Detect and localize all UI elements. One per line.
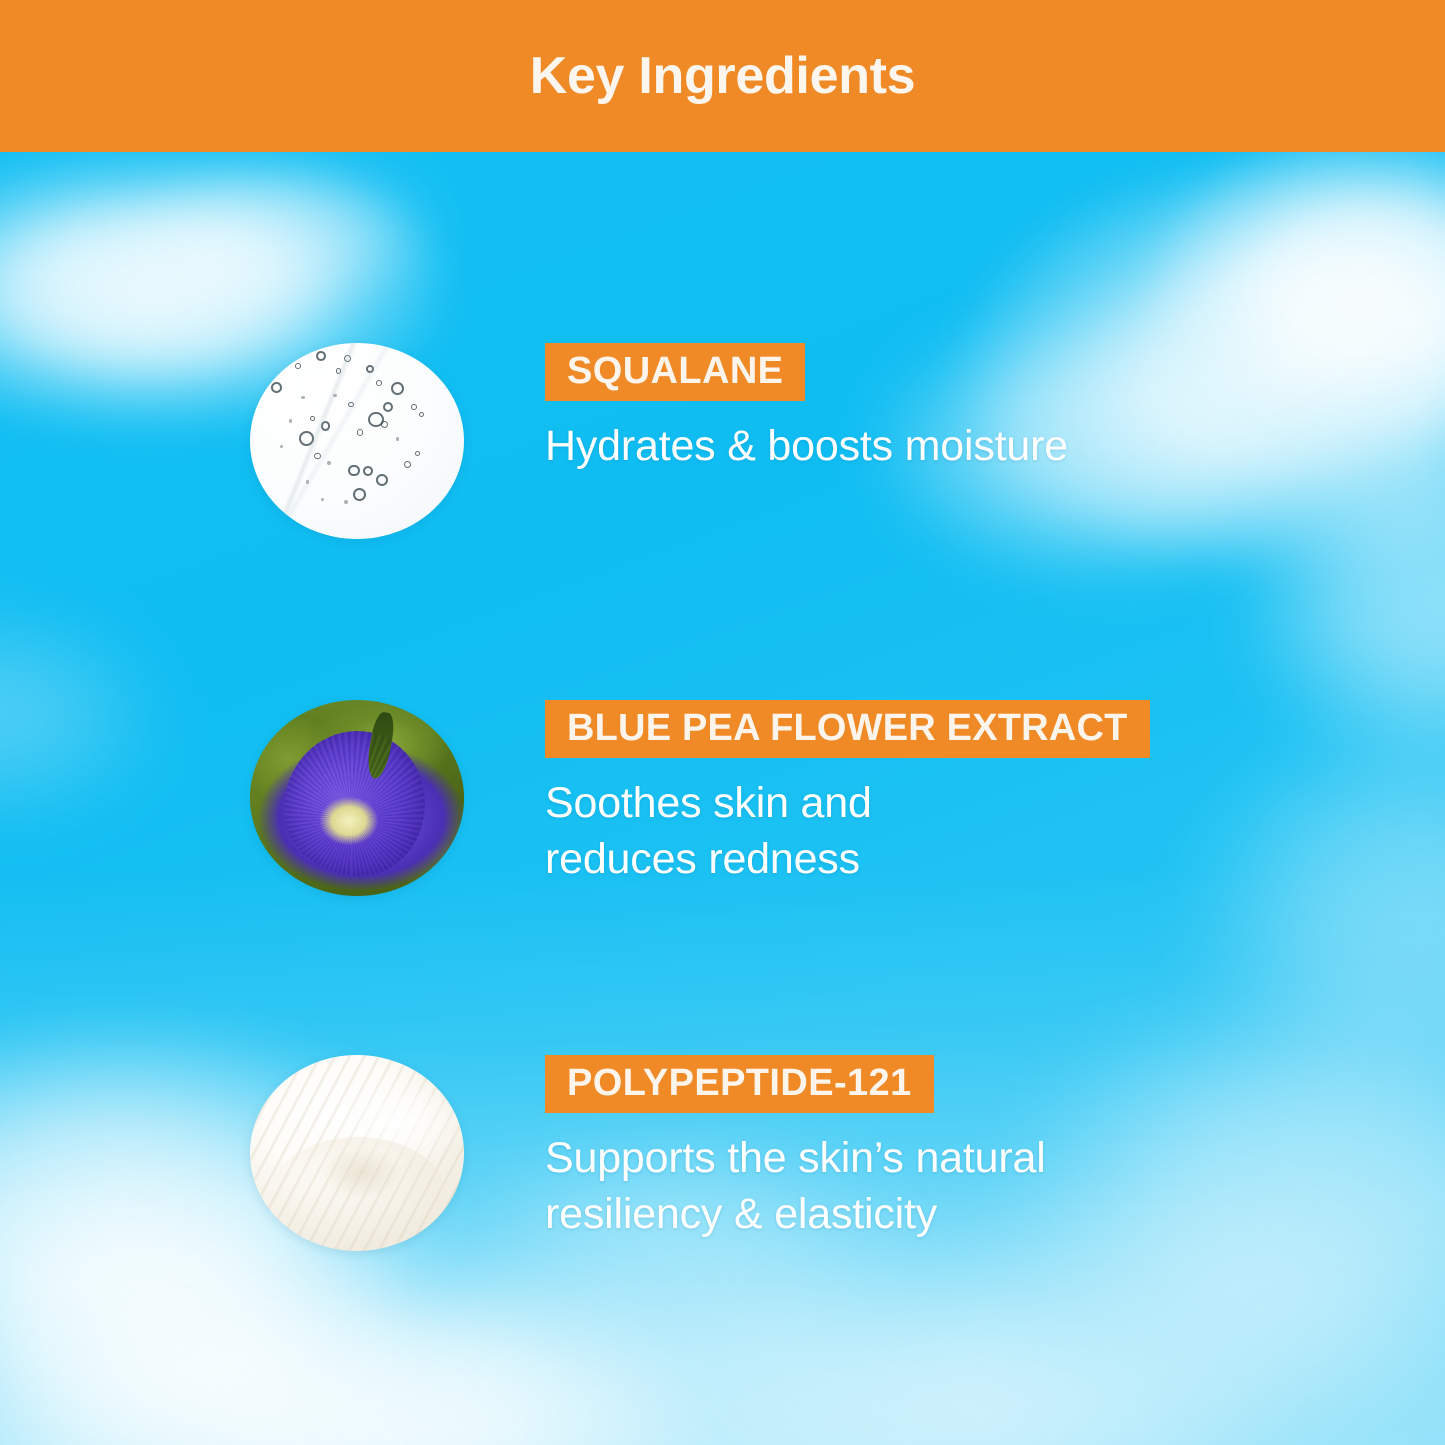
blue-pea-flower-icon <box>250 700 464 896</box>
page-title: Key Ingredients <box>530 46 916 106</box>
blue-pea-flower-text: BLUE PEA FLOWER EXTRACT Soothes skin and… <box>545 700 1150 888</box>
squalane-thumbnail <box>250 343 464 539</box>
ingredient-description: Supports the skin’s natural resiliency &… <box>545 1131 1046 1243</box>
polypeptide-thumbnail <box>250 1055 464 1251</box>
ingredient-name-badge: POLYPEPTIDE-121 <box>545 1055 934 1113</box>
header-banner: Key Ingredients <box>0 0 1445 152</box>
ingredient-description: Hydrates & boosts moisture <box>545 419 1068 475</box>
ingredient-list: SQUALANE Hydrates & boosts moisture BLUE… <box>0 152 1445 1445</box>
ingredient-name-badge: BLUE PEA FLOWER EXTRACT <box>545 700 1150 758</box>
key-ingredients-infographic: Key Ingredients <box>0 0 1445 1445</box>
ingredient-name-badge: SQUALANE <box>545 343 805 401</box>
squalane-text: SQUALANE Hydrates & boosts moisture <box>545 343 1068 475</box>
flower-stem <box>364 710 397 779</box>
blue-pea-flower-thumbnail <box>250 700 464 896</box>
ingredient-description: Soothes skin and reduces redness <box>545 776 1150 888</box>
polypeptide-text: POLYPEPTIDE-121 Supports the skin’s natu… <box>545 1055 1046 1243</box>
white-cream-swirl-icon <box>250 1055 464 1251</box>
clear-gel-bubbles-icon <box>250 343 464 539</box>
